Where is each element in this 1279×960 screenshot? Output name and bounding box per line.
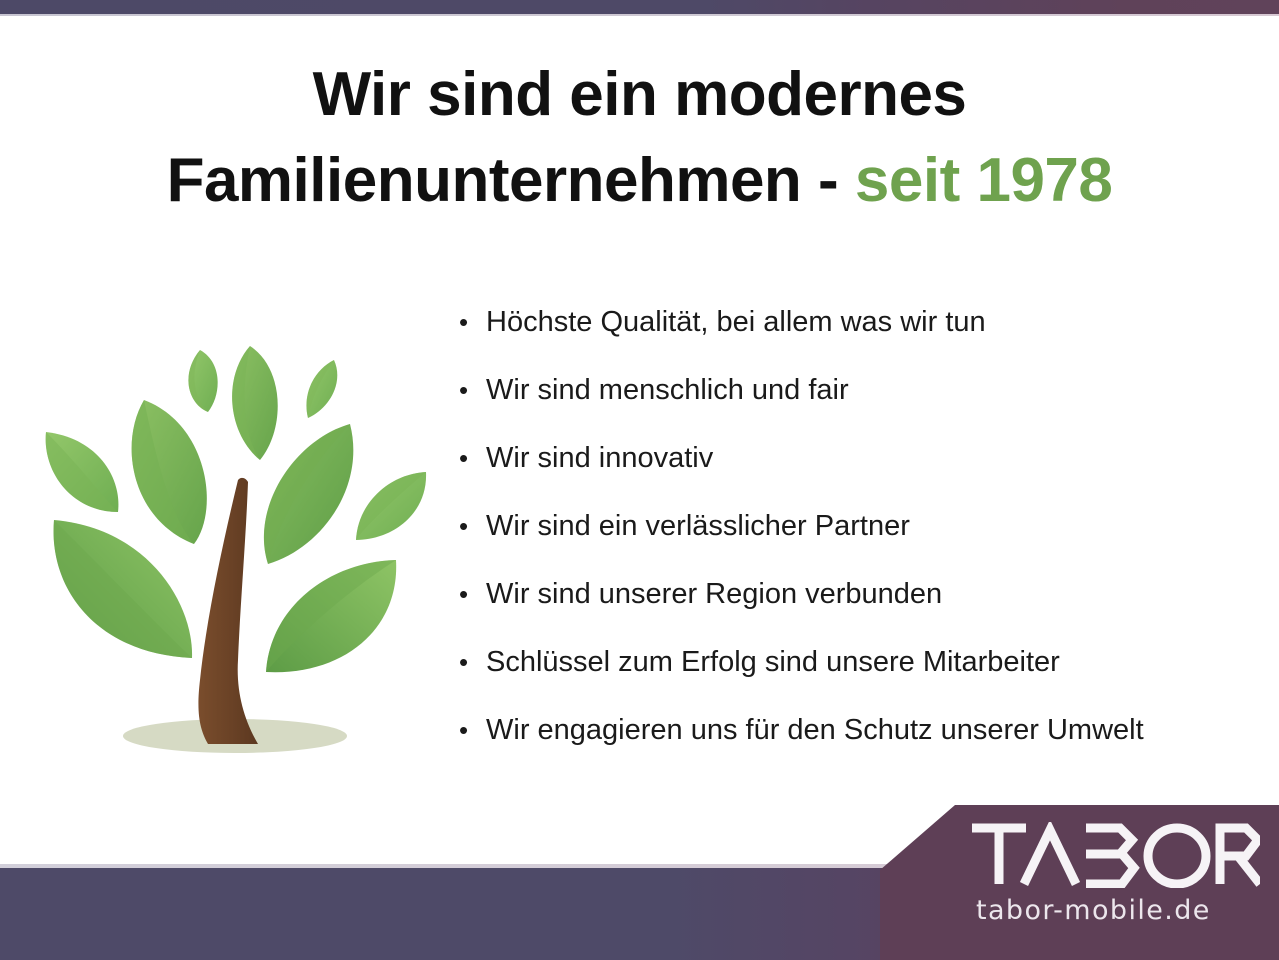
bullet-marker-icon: • (455, 507, 477, 545)
page-title-line-1: Wir sind ein modernes (0, 52, 1279, 138)
bullet-marker-icon: • (455, 439, 477, 477)
list-item-label: Höchste Qualität, bei allem was wir tun (477, 303, 986, 341)
list-item: • Wir sind ein verlässlicher Partner (455, 507, 1265, 575)
list-item: • Wir sind unserer Region verbunden (455, 575, 1265, 643)
leaf-upper-left (132, 400, 207, 544)
leaf-center-top (232, 346, 278, 460)
list-item-label: Schlüssel zum Erfolg sind unsere Mitarbe… (477, 643, 1060, 681)
value-bullet-list: • Höchste Qualität, bei allem was wir tu… (455, 303, 1265, 779)
bullet-marker-icon: • (455, 643, 477, 681)
page-title-line-2: Familienunternehmen - seit 1978 (0, 138, 1279, 224)
list-item-label: Wir sind innovativ (477, 439, 713, 477)
list-item: • Wir engagieren uns für den Schutz unse… (455, 711, 1265, 779)
leaf-top-right (306, 360, 337, 418)
list-item-label: Wir engagieren uns für den Schutz unsere… (477, 711, 1144, 749)
top-accent-bar-hairline (0, 14, 1279, 16)
page-title-accent: seit 1978 (855, 146, 1113, 215)
list-item-label: Wir sind unserer Region verbunden (477, 575, 942, 613)
list-item: • Höchste Qualität, bei allem was wir tu… (455, 303, 1265, 371)
list-item-label: Wir sind menschlich und fair (477, 371, 849, 409)
bullet-marker-icon: • (455, 303, 477, 341)
top-accent-bar (0, 0, 1279, 14)
list-item: • Wir sind menschlich und fair (455, 371, 1265, 439)
brand-url: tabor-mobile.de (976, 896, 1276, 926)
bullet-marker-icon: • (455, 575, 477, 613)
slide-canvas: Wir sind ein modernes Familienunternehme… (0, 0, 1279, 960)
list-item: • Wir sind innovativ (455, 439, 1265, 507)
tree-trunk (198, 478, 258, 744)
bullet-marker-icon: • (455, 371, 477, 409)
list-item: • Schlüssel zum Erfolg sind unsere Mitar… (455, 643, 1265, 711)
leaf-left-small (46, 432, 119, 512)
brand-logo-plate: tabor-mobile.de (880, 800, 1279, 960)
leaf-top-left (188, 350, 217, 412)
page-title: Wir sind ein modernes Familienunternehme… (0, 52, 1279, 224)
page-title-line-2-plain: Familienunternehmen - (167, 146, 855, 215)
list-item-label: Wir sind ein verlässlicher Partner (477, 507, 910, 545)
leaf-right-small (356, 472, 426, 540)
leaf-lower-left (54, 520, 193, 658)
leaf-lower-right (266, 560, 396, 672)
bullet-marker-icon: • (455, 711, 477, 749)
leaf-upper-right (264, 424, 353, 564)
tree-logo-illustration (22, 332, 442, 760)
brand-wordmark (970, 822, 1270, 898)
